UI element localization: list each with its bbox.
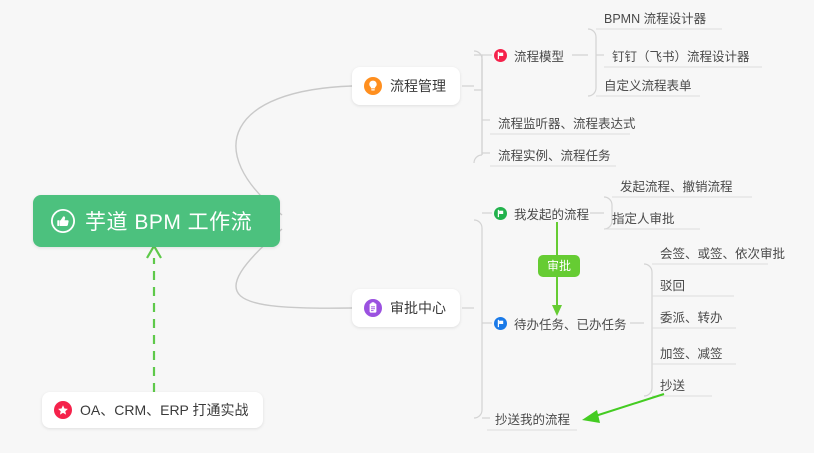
sub-label-my-initiated: 我发起的流程 (514, 204, 589, 223)
leaf-node-instance-task[interactable]: 流程实例、流程任务 (492, 146, 617, 170)
branch-node-process-management[interactable]: 流程管理 (352, 67, 460, 105)
flag-icon (494, 317, 507, 330)
leaf-node-reject[interactable]: 驳回 (654, 276, 691, 300)
branch-label-process-management: 流程管理 (390, 76, 446, 96)
link-process-management-trunk (462, 51, 482, 163)
root-node[interactable]: 芋道 BPM 工作流 (33, 195, 280, 247)
green-arrow-cc-head (582, 410, 600, 423)
link-model-corner-top (588, 29, 596, 37)
leaf-node-custom-form[interactable]: 自定义流程表单 (598, 76, 698, 100)
leaf-node-listener-expression[interactable]: 流程监听器、流程表达式 (492, 114, 642, 138)
sub-label-process-model: 流程模型 (514, 46, 564, 65)
lightbulb-icon (364, 77, 382, 95)
callout-label-integration: OA、CRM、ERP 打通实战 (80, 400, 249, 420)
sub-label-todo-done-tasks: 待办任务、已办任务 (514, 314, 627, 333)
star-icon (54, 401, 72, 419)
leaf-node-bpmn-designer[interactable]: BPMN 流程设计器 (598, 9, 712, 33)
dashed-arrow-head (147, 246, 161, 258)
link-ac-corner-bottom (474, 410, 482, 418)
green-arrow-cc-line (589, 394, 664, 418)
leaf-node-countersign[interactable]: 会签、或签、依次审批 (654, 244, 791, 268)
branch-label-approval-center: 审批中心 (390, 298, 446, 318)
callout-node-integration[interactable]: OA、CRM、ERP 打通实战 (42, 392, 263, 428)
branch-node-approval-center[interactable]: 审批中心 (352, 289, 460, 327)
link-model-corner-bottom (588, 88, 596, 96)
thumbs-up-icon (51, 209, 75, 233)
tag-node-approval[interactable]: 审批 (538, 255, 580, 277)
root-label: 芋道 BPM 工作流 (85, 206, 252, 236)
mindmap-canvas: 芋道 BPM 工作流 流程管理 审批中心 (0, 0, 814, 453)
sub-node-my-initiated[interactable]: 我发起的流程 (494, 202, 589, 224)
sub-node-todo-done-tasks[interactable]: 待办任务、已办任务 (494, 312, 627, 334)
flag-icon (494, 207, 507, 220)
leaf-node-start-cancel-process[interactable]: 发起流程、撤销流程 (614, 177, 739, 201)
link-mi-corner-top (604, 197, 612, 205)
flag-icon (494, 49, 507, 62)
leaf-node-cc-my-process[interactable]: 抄送我的流程 (489, 410, 576, 434)
link-task-corner-bottom (644, 388, 652, 396)
sub-node-process-model[interactable]: 流程模型 (494, 44, 564, 66)
clipboard-icon (364, 299, 382, 317)
link-task-corner-top (644, 264, 652, 272)
leaf-node-cc[interactable]: 抄送 (654, 376, 691, 400)
link-pm-branch-model (474, 55, 482, 90)
leaf-node-delegate-transfer[interactable]: 委派、转办 (654, 308, 729, 332)
leaf-node-assignee-approval[interactable]: 指定人审批 (606, 209, 681, 233)
link-model-trunk (572, 37, 596, 88)
link-ac-corner-top (474, 220, 482, 228)
leaf-node-dingtalk-designer[interactable]: 钉钉（飞书）流程设计器 (606, 47, 756, 71)
leaf-node-add-remove-sign[interactable]: 加签、减签 (654, 344, 729, 368)
